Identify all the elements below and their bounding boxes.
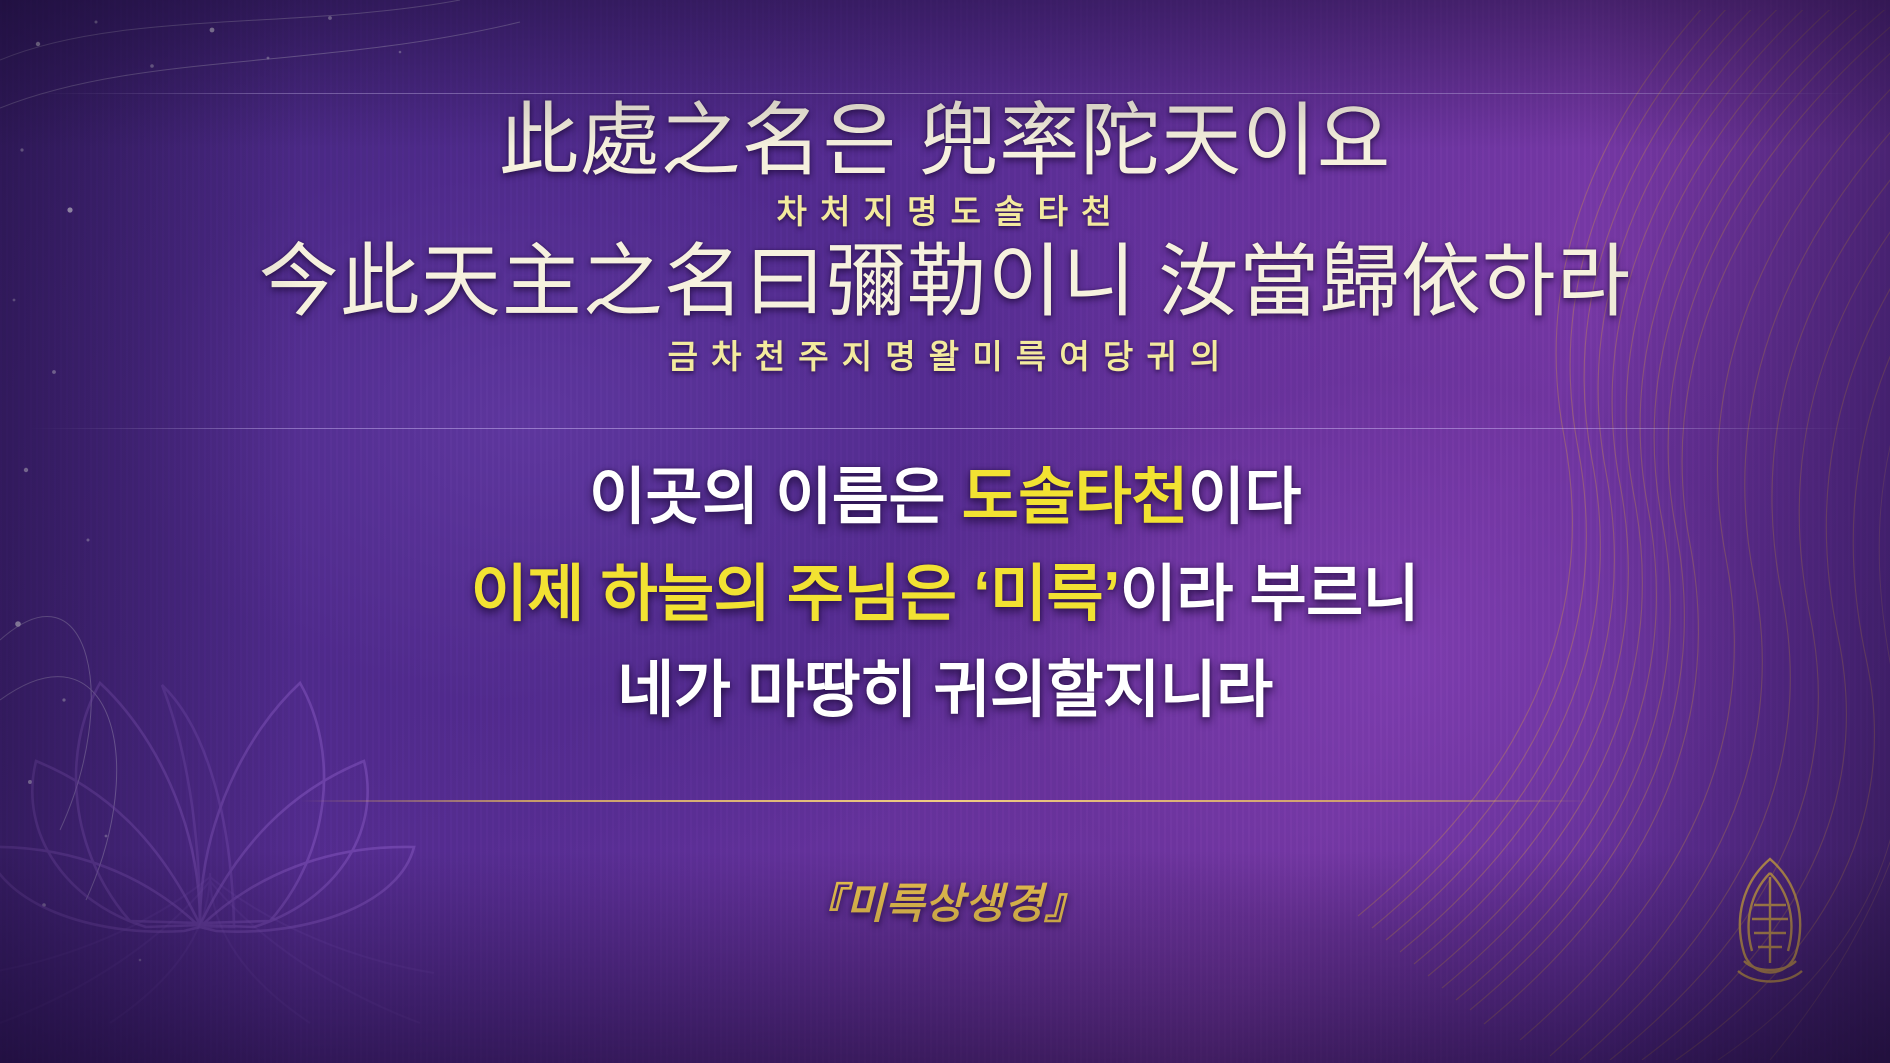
hanja-line-2: 今此天主之名曰彌勒이니 汝當歸依하라 [0,241,1890,326]
translation-line-2: 이제 하늘의 주님은 ‘미륵’이라 부르니 [0,555,1890,636]
translation-line-3-part-1: 네가 마땅히 귀의할지니라 [617,656,1272,725]
citation-row: 『미륵상생경』 [0,870,1890,931]
hanja-ruby-line-2: 금 차 천 주 지 명 왈 미 륵 여 당 귀 의 [0,330,1890,378]
translation-line-1: 이곳의 이름은 도솔타천이다 [0,458,1890,539]
translation-line-2-highlight: 이제 하늘의 주님은 ‘미륵’ [471,560,1120,629]
translation-line-1-part-3: 이다 [1188,463,1301,532]
scripture-citation: 『미륵상생경』 [803,870,1087,931]
slide-canvas: 此處之名은 兜率陀天이요 차 처 지 명 도 솔 타 천 今此天主之名曰彌勒이니… [0,0,1890,1063]
hanja-ruby-line-1: 차 처 지 명 도 솔 타 천 [0,185,1890,233]
divider-gold [300,800,1590,802]
translation-line-2-part-2: 이라 부르니 [1120,560,1419,629]
scripture-hanja-block: 此處之名은 兜率陀天이요 차 처 지 명 도 솔 타 천 今此天主之名曰彌勒이니… [0,100,1890,378]
divider-top [28,93,1862,94]
translation-line-1-part-1: 이곳의 이름은 [589,463,962,532]
scripture-translation-block: 이곳의 이름은 도솔타천이다 이제 하늘의 주님은 ‘미륵’이라 부르니 네가 … [0,452,1890,732]
hanja-line-1: 此處之名은 兜率陀天이요 [0,100,1890,185]
divider-middle [28,428,1862,429]
translation-line-1-highlight: 도솔타천 [962,463,1188,532]
translation-line-3: 네가 마땅히 귀의할지니라 [0,651,1890,732]
